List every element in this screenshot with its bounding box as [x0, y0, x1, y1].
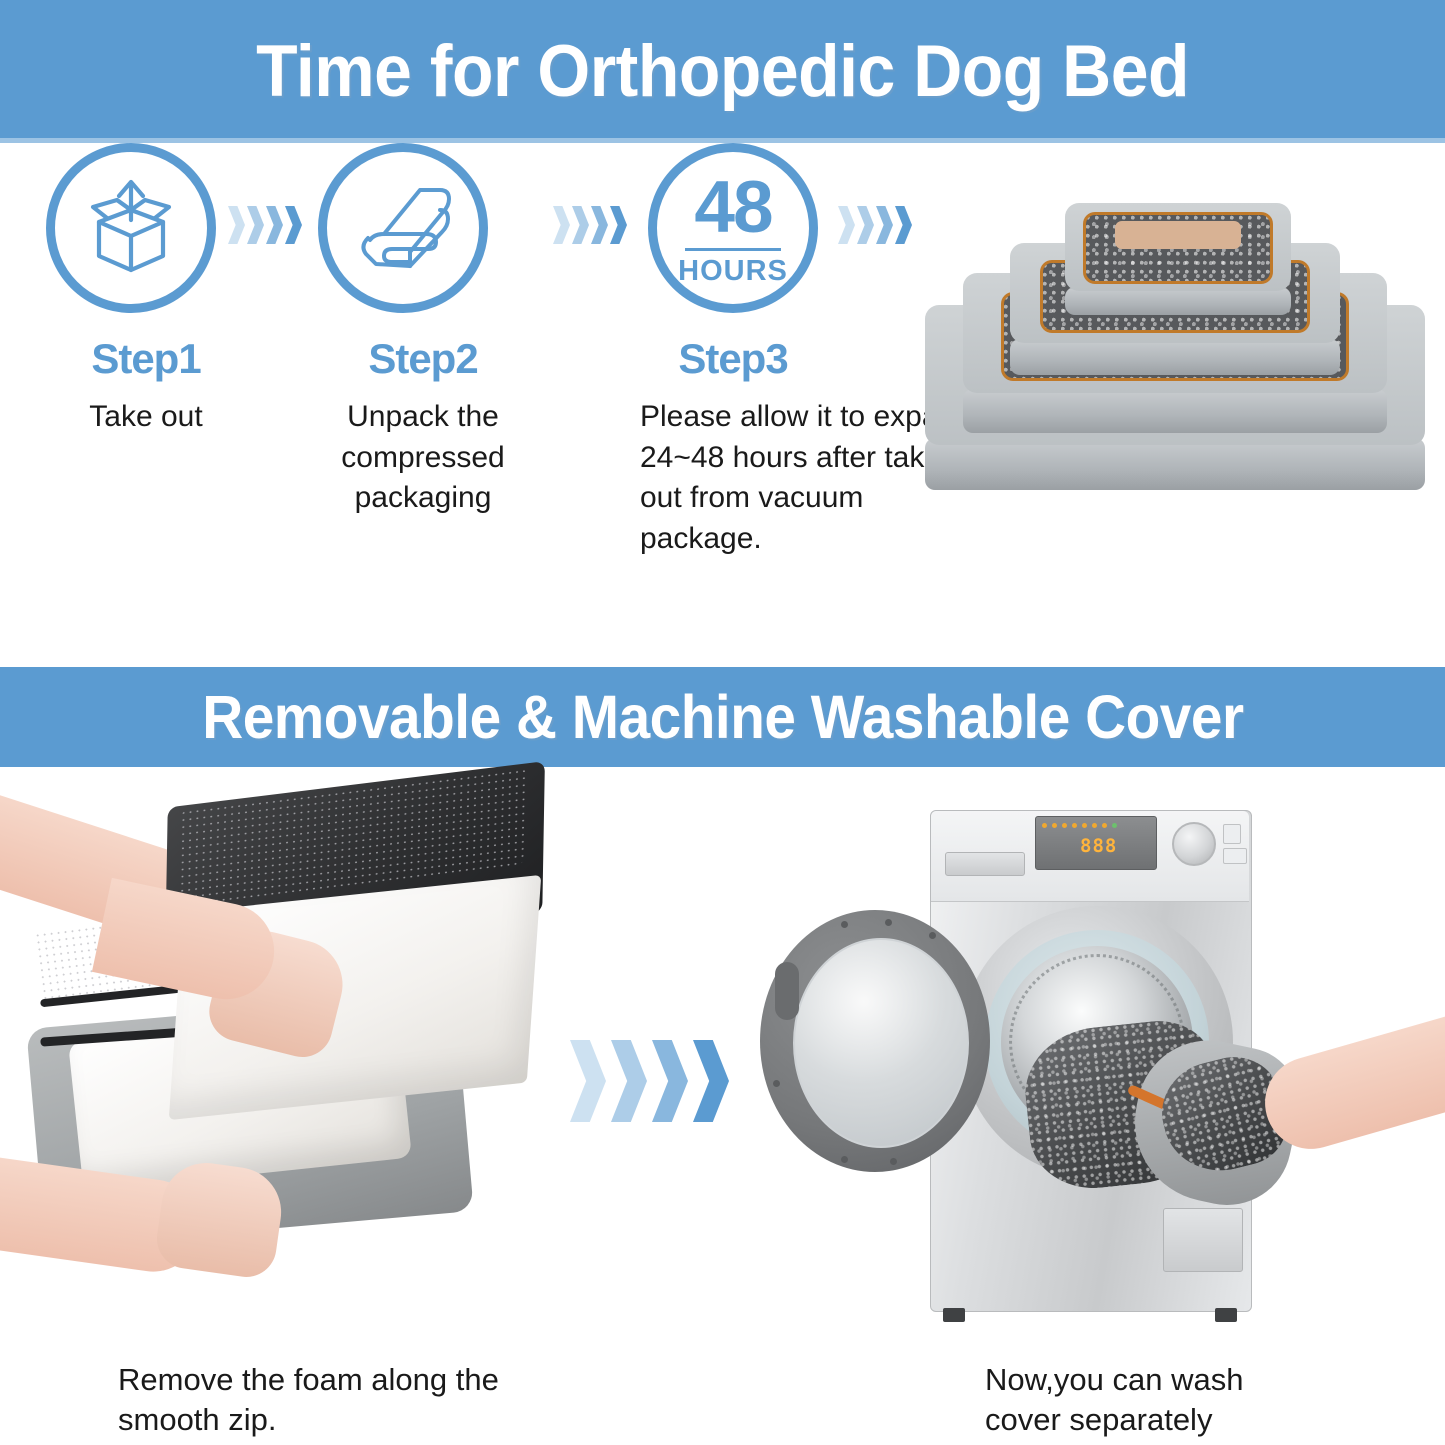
chevron-icon [611, 1040, 647, 1122]
bed-base [963, 389, 1387, 433]
step-arrow-3 [838, 206, 914, 244]
door-bolt-icon [841, 1156, 848, 1163]
bed-bolster [1065, 203, 1291, 291]
led-icon [1092, 823, 1097, 828]
step-2-description: Unpack the compressed packaging [318, 397, 528, 519]
step-1-circle [46, 143, 216, 313]
hours-word: HOURS [678, 257, 788, 286]
step-1-label: Step1 [46, 335, 246, 383]
chevron-icon [228, 206, 245, 244]
top-banner-title: Time for Orthopedic Dog Bed [256, 30, 1189, 113]
bed-center-panel [1083, 212, 1273, 284]
led-icon [1042, 823, 1047, 828]
chevron-icon [266, 206, 283, 244]
digital-display: 888 [1035, 816, 1157, 870]
hours-divider [685, 248, 781, 251]
chevron-icon [838, 206, 855, 244]
display-value: 888 [1080, 835, 1117, 857]
infographic-page: Time for Orthopedic Dog Bed [0, 0, 1445, 1445]
washer-arm [1254, 1016, 1445, 1160]
dog-bed-size-1 [1065, 203, 1291, 315]
door-bolt-icon [929, 932, 936, 939]
step-2: Step2 Unpack the compressed packaging [318, 143, 528, 519]
program-dial [1172, 822, 1216, 866]
led-icon [1052, 823, 1057, 828]
step-1-description: Take out [46, 397, 246, 438]
48-hours-icon: 48 HOURS [678, 171, 788, 286]
chevron-icon [895, 206, 912, 244]
door-handle[interactable] [775, 962, 799, 1020]
step-arrow-2 [553, 206, 629, 244]
transition-arrow [570, 1040, 734, 1122]
bed-sleep-surface [1115, 221, 1240, 249]
chevron-icon [652, 1040, 688, 1122]
chevron-icon [857, 206, 874, 244]
chevron-icon [553, 206, 570, 244]
led-icon [1072, 823, 1077, 828]
hands-removing-foam-photo [0, 775, 560, 1320]
led-icon [1112, 823, 1117, 828]
door-bolt-icon [841, 921, 848, 928]
hours-number: 48 [694, 171, 771, 244]
step-1: Step1 Take out [46, 143, 246, 438]
step-2-label: Step2 [318, 335, 528, 383]
led-icon [1082, 823, 1087, 828]
step-arrow-1 [228, 206, 304, 244]
door-bolt-icon [885, 919, 892, 926]
chevron-icon [693, 1040, 729, 1122]
washer-foot [943, 1308, 965, 1322]
stacked-dog-beds-photo [925, 195, 1425, 495]
bed-base [1065, 287, 1291, 315]
bed-base [1010, 339, 1340, 375]
top-banner: Time for Orthopedic Dog Bed [0, 0, 1445, 143]
washer-foot [1215, 1308, 1237, 1322]
door-glass [793, 938, 969, 1148]
door-bolt-icon [773, 1080, 780, 1087]
door-bolt-icon [890, 1158, 897, 1165]
led-indicator-row [1042, 823, 1117, 828]
open-box-with-up-arrow-icon [77, 174, 185, 282]
chevron-icon [876, 206, 893, 244]
chevron-icon [570, 1040, 606, 1122]
middle-banner: Removable & Machine Washable Cover [0, 667, 1445, 767]
detergent-drawer [945, 852, 1025, 876]
caption-washer-photo: Now,you can wash cover separately [985, 1360, 1315, 1441]
panel-button[interactable] [1223, 824, 1241, 844]
chevron-icon [610, 206, 627, 244]
step-3-label: Step3 [640, 335, 826, 383]
led-icon [1062, 823, 1067, 828]
caption-foam-photo: Remove the foam along the smooth zip. [118, 1360, 538, 1441]
step-3-circle: 48 HOURS [648, 143, 818, 313]
chevron-icon [285, 206, 302, 244]
panel-button[interactable] [1223, 848, 1247, 864]
chevron-icon [572, 206, 589, 244]
led-icon [1102, 823, 1107, 828]
bed-base [925, 438, 1425, 490]
filter-access-panel [1163, 1208, 1243, 1272]
middle-banner-title: Removable & Machine Washable Cover [202, 682, 1243, 752]
washing-machine-photo: 888 [745, 780, 1445, 1340]
step-2-circle [318, 143, 488, 313]
chevron-icon [591, 206, 608, 244]
chevron-icon [247, 206, 264, 244]
folded-blanket-icon [348, 176, 458, 280]
